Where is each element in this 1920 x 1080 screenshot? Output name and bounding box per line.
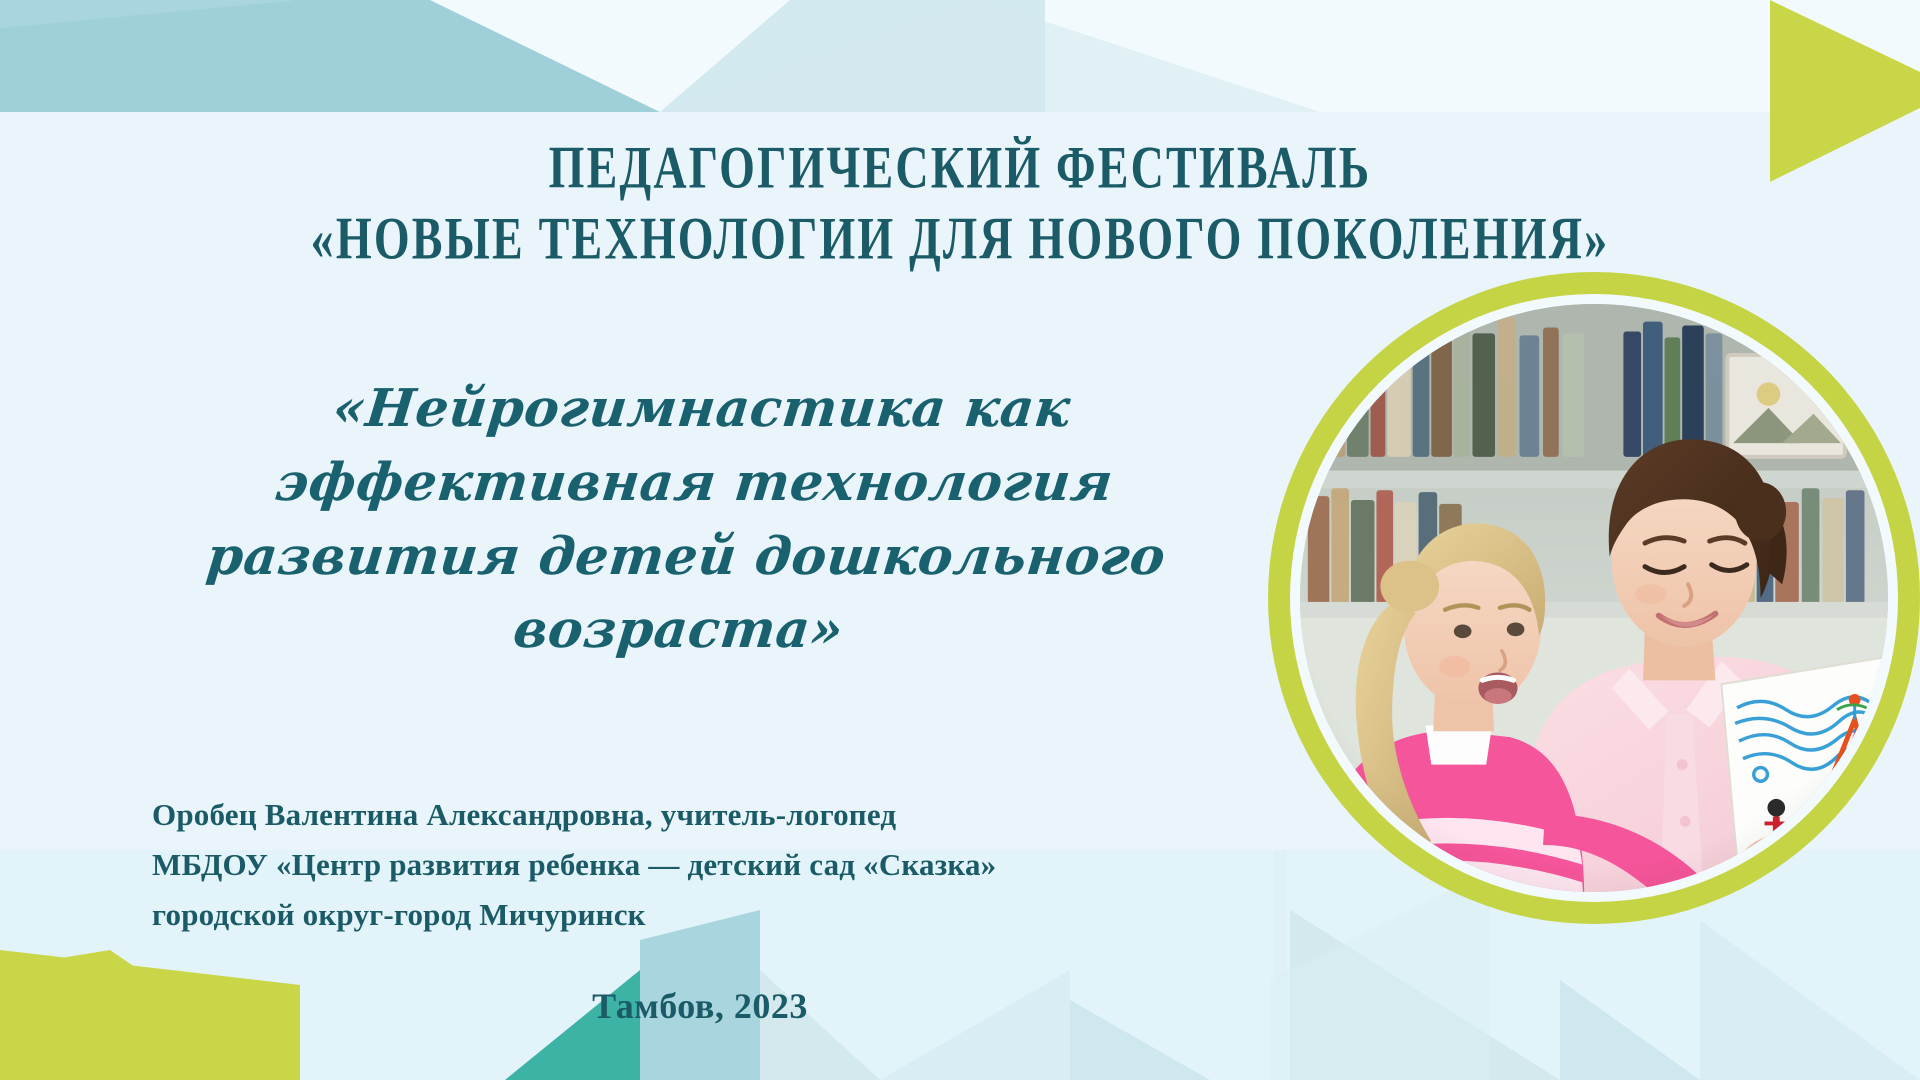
main-title-line4: возраста» [134,593,1222,667]
festival-title: ПЕДАГОГИЧЕСКИЙ ФЕСТИВАЛЬ «НОВЫЕ ТЕХНОЛОГ… [0,132,1920,275]
place-and-year: Тамбов, 2023 [380,985,1020,1027]
main-title-line3: развития детей дошкольного [142,520,1230,594]
presentation-main-title: «Нейрогимнастика как эффективная техноло… [134,372,1245,667]
festival-title-line2: «НОВЫЕ ТЕХНОЛОГИИ ДЛЯ НОВОГО ПОКОЛЕНИЯ» [0,204,1920,276]
main-title-line2: эффективная технология [150,446,1238,520]
author-credits: Оробец Валентина Александровна, учитель-… [152,790,1332,941]
main-title-line1: «Нейрогимнастика как [158,372,1246,446]
credits-line-institution: МБДОУ «Центр развития ребенка — детский … [152,840,1332,890]
photo-illustration [1300,304,1888,892]
photo-inner-gap [1290,294,1898,902]
photo-teacher-and-child [1300,304,1888,892]
photo-ring-border [1268,272,1920,924]
credits-line-city: городской округ-город Мичуринск [152,890,1332,940]
festival-title-line1: ПЕДАГОГИЧЕСКИЙ ФЕСТИВАЛЬ [549,133,1372,200]
credits-line-author: Оробец Валентина Александровна, учитель-… [152,790,1332,840]
presentation-slide: ПЕДАГОГИЧЕСКИЙ ФЕСТИВАЛЬ «НОВЫЕ ТЕХНОЛОГ… [0,0,1920,1080]
